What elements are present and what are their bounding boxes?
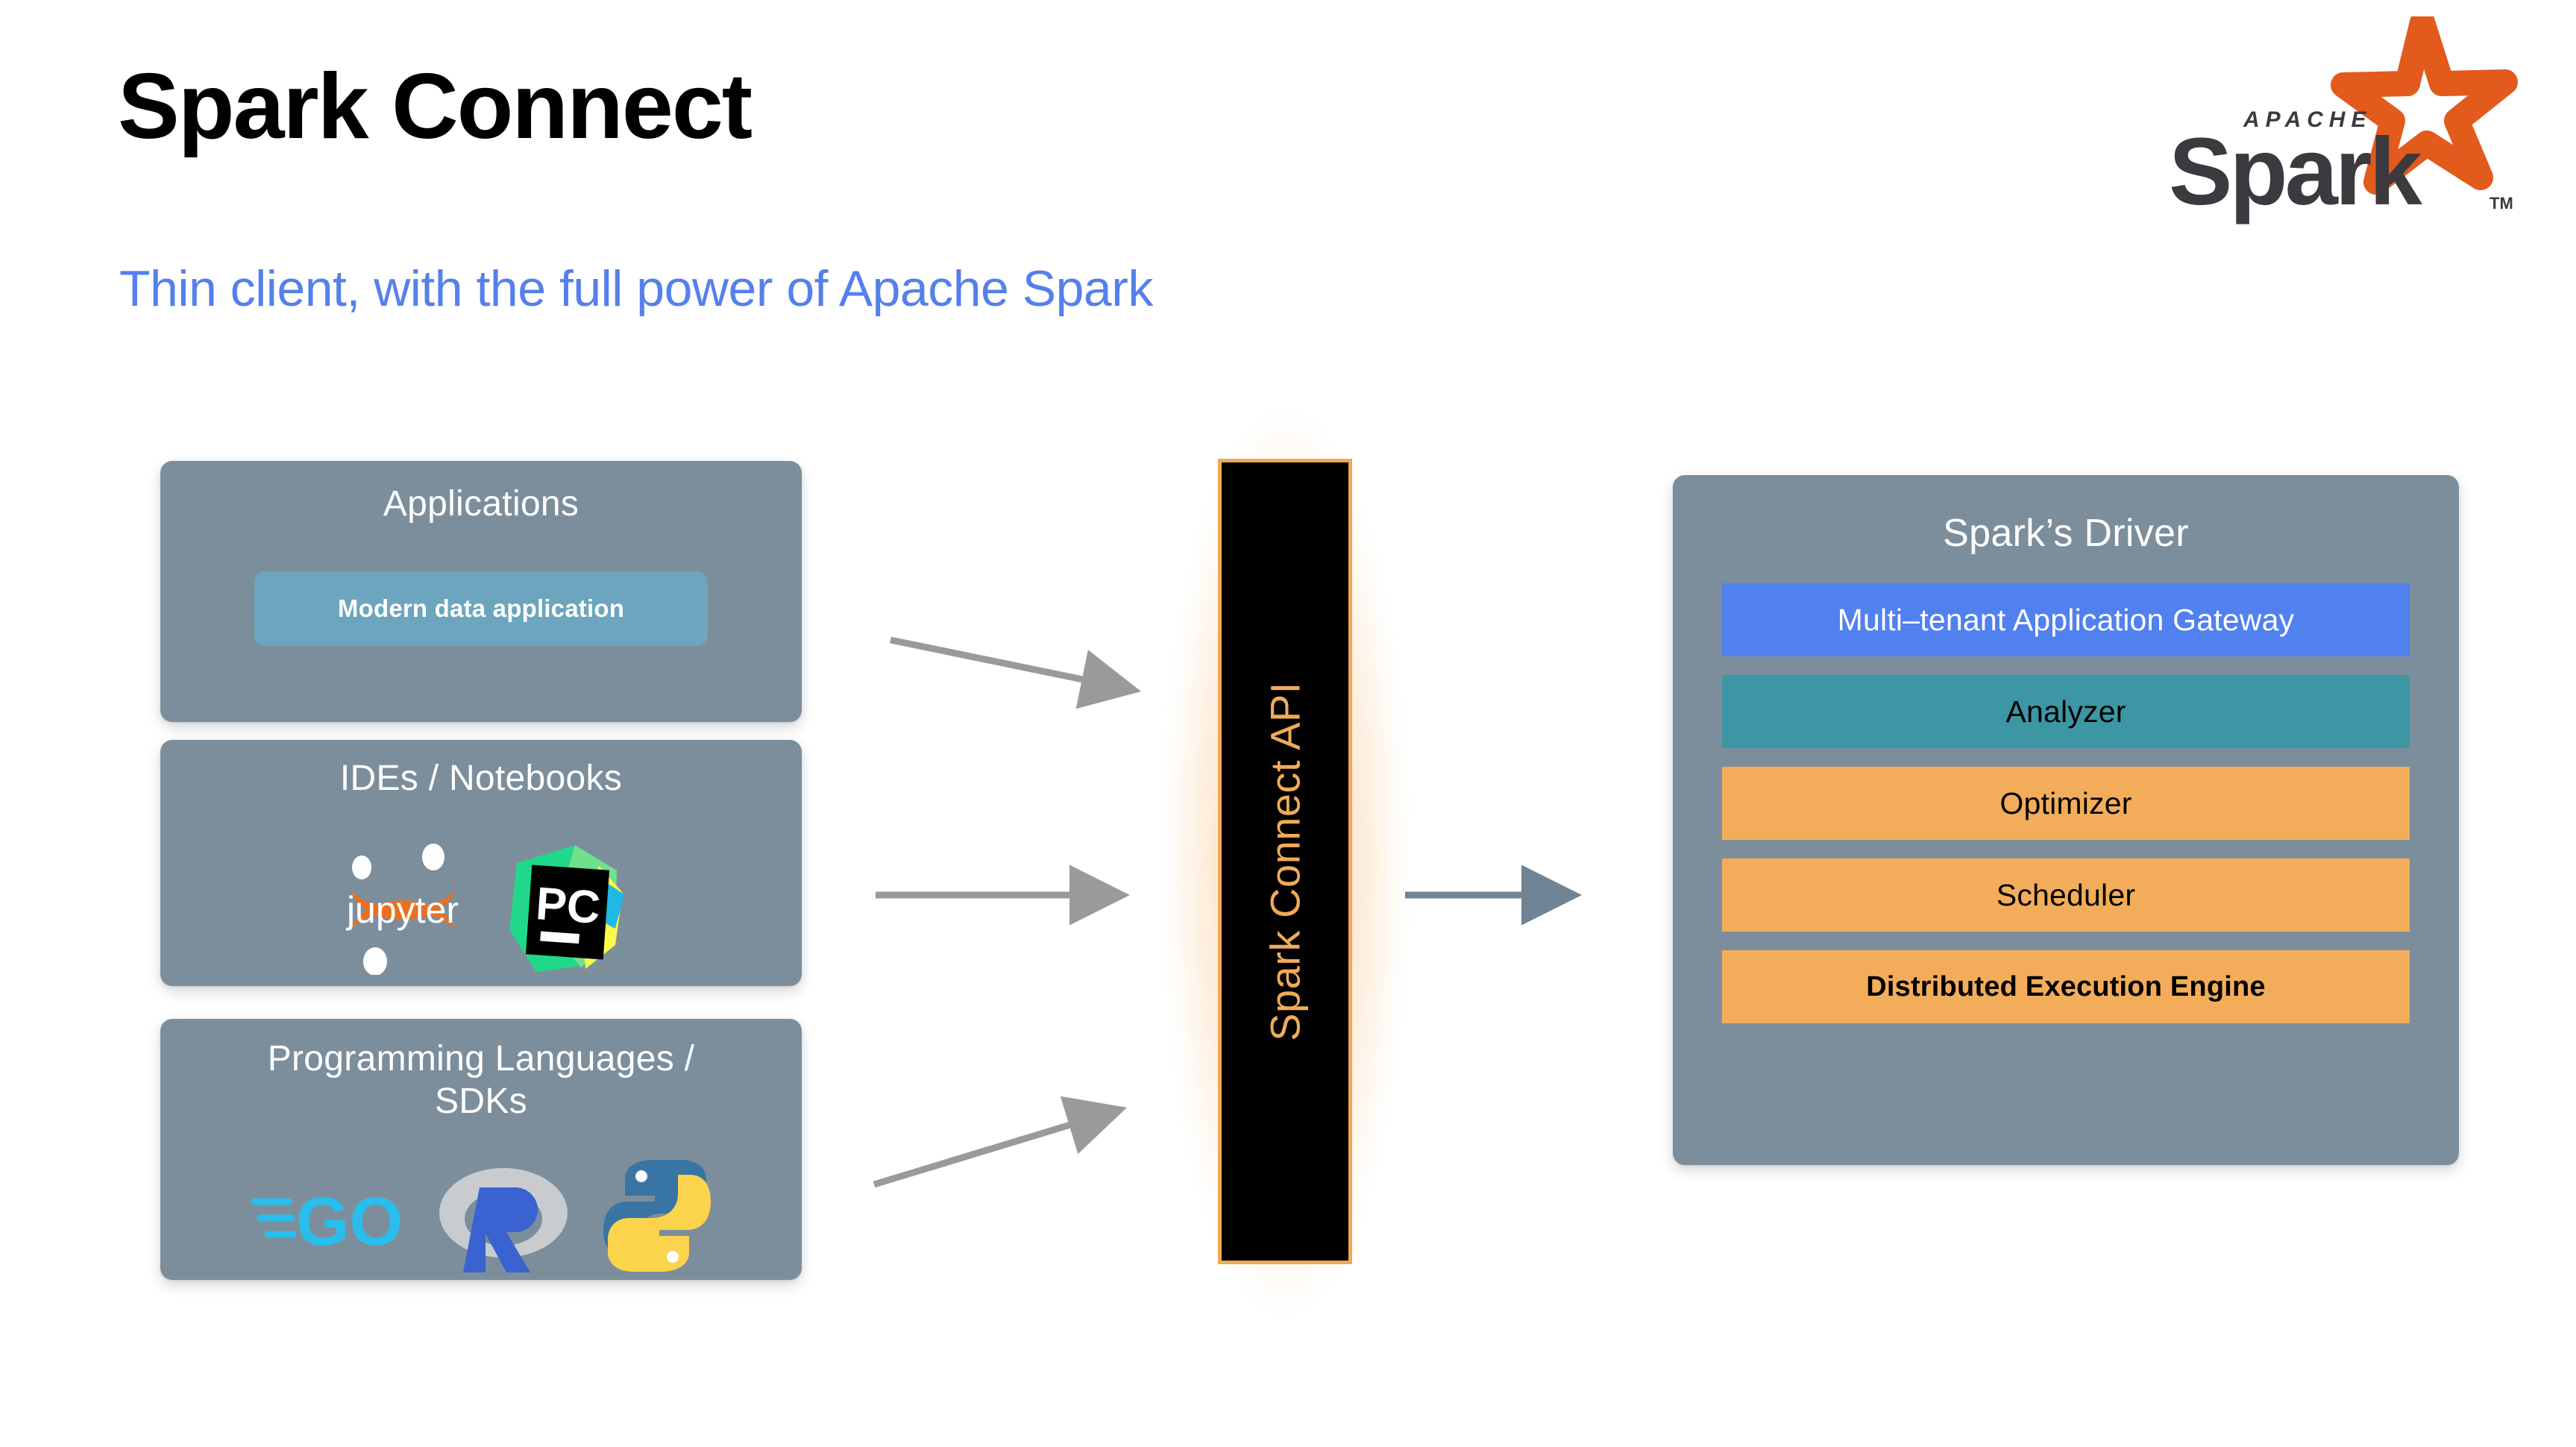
spark-connect-api-bar[interactable]: Spark Connect API bbox=[1218, 459, 1352, 1264]
go-logo-label: GO bbox=[296, 1184, 403, 1260]
driver-layer-scheduler[interactable]: Scheduler bbox=[1722, 859, 2410, 932]
applications-title: Applications bbox=[160, 483, 802, 526]
spark-driver-layer-stack: Multi–tenant Application Gateway Analyze… bbox=[1722, 583, 2410, 1023]
arrow-api-to-driver bbox=[1402, 850, 1656, 940]
client-box-ides-notebooks[interactable]: IDEs / Notebooks jupyter PC bbox=[160, 740, 802, 986]
logo-wordmark-text: Spark bbox=[2169, 119, 2423, 225]
page-subtitle: Thin client, with the full power of Apac… bbox=[119, 260, 1153, 318]
languages-title: Programming Languages / SDKs bbox=[160, 1038, 802, 1123]
page-title: Spark Connect bbox=[118, 58, 751, 155]
spark-driver-title: Spark’s Driver bbox=[1673, 511, 2459, 556]
apache-spark-logo: APACHE Spark TM bbox=[2130, 16, 2533, 225]
driver-layer-optimizer[interactable]: Optimizer bbox=[1722, 767, 2410, 840]
python-logo bbox=[599, 1157, 711, 1276]
r-logo bbox=[436, 1155, 571, 1278]
language-logo-row: GO bbox=[160, 1155, 802, 1278]
pycharm-logo-label: PC bbox=[534, 878, 602, 934]
spark-connect-api-box[interactable]: Spark Connect API bbox=[1218, 459, 1352, 1264]
driver-layer-gateway[interactable]: Multi–tenant Application Gateway bbox=[1722, 583, 2410, 656]
go-logo: GO bbox=[251, 1172, 408, 1261]
ides-title: IDEs / Notebooks bbox=[160, 758, 802, 800]
ide-logo-row: jupyter PC bbox=[160, 841, 802, 975]
slide-canvas: Spark Connect Thin client, with the full… bbox=[0, 0, 2576, 1447]
jupyter-logo-label: jupyter bbox=[345, 889, 459, 931]
jupyter-logo: jupyter bbox=[332, 841, 474, 975]
modern-data-application-chip[interactable]: Modern data application bbox=[254, 571, 708, 646]
spark-driver-panel[interactable]: Spark’s Driver Multi–tenant Application … bbox=[1673, 475, 2459, 1165]
spark-connect-api-label: Spark Connect API bbox=[1261, 682, 1310, 1041]
pycharm-logo: PC bbox=[503, 841, 630, 975]
client-box-applications[interactable]: Applications Modern data application bbox=[160, 461, 802, 722]
driver-layer-engine[interactable]: Distributed Execution Engine bbox=[1722, 950, 2410, 1023]
driver-layer-analyzer[interactable]: Analyzer bbox=[1722, 675, 2410, 748]
logo-trademark-text: TM bbox=[2489, 194, 2513, 213]
client-box-programming-languages[interactable]: Programming Languages / SDKs GO bbox=[160, 1019, 802, 1280]
